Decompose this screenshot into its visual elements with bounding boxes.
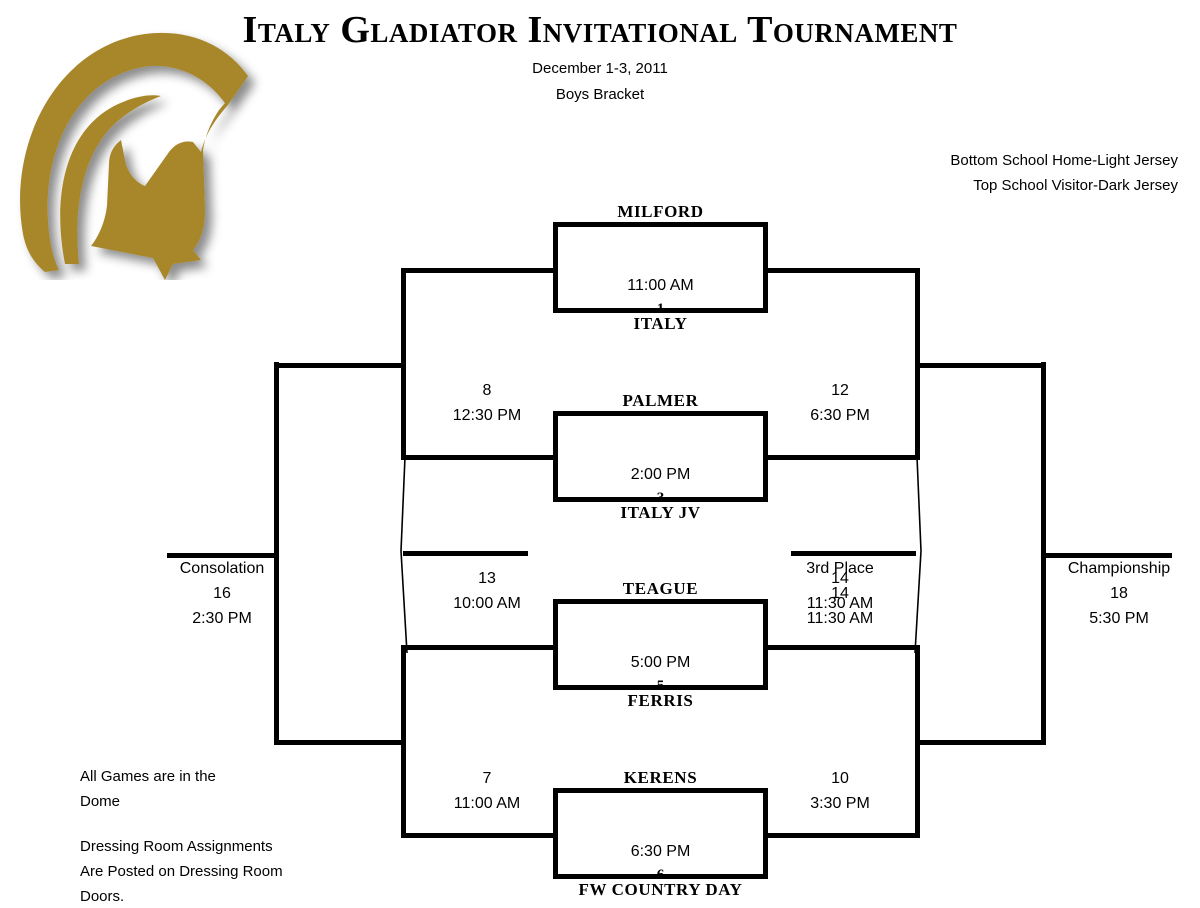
jersey-note-line-1: Bottom School Home-Light Jersey [758,148,1178,173]
slot-game-13-time: 10:00 AM [412,591,562,616]
note-dressing-line-3: Doors. [80,884,283,908]
game-6-time: 6:30 PM [558,843,763,861]
bracket-line-lower-bottom-arm [401,833,555,838]
game-5-bottom-team: FERRIS [558,691,763,711]
tournament-bracket-page: Italy Gladiator Invitational Tournament … [0,0,1200,908]
slot-game-8-time: 12:30 PM [412,403,562,428]
slot-game-7-number: 7 [412,766,562,791]
note-venue: All Games are in the Dome [80,764,216,814]
game-3-top-team: PALMER [558,391,763,411]
game-1-bottom-team: ITALY [558,314,763,334]
bracket-line-upper-bottom-arm [401,455,555,460]
slot-game-12: 12 6:30 PM [765,378,915,428]
slot-game-7-time: 11:00 AM [412,791,562,816]
slot-third-place: 3rd Place 14 11:30 AM [765,556,915,631]
bracket-connector-left-upper [396,455,416,655]
note-dressing-rooms: Dressing Room Assignments Are Posted on … [80,834,283,908]
bracket-line-game13-stub [403,551,528,556]
game-5-time: 5:00 PM [558,654,763,672]
bracket-line-lower-right-top-arm [766,645,920,650]
jersey-note-line-2: Top School Visitor-Dark Jersey [758,173,1178,198]
game-1-top-team: MILFORD [558,202,763,222]
game-box-5[interactable]: TEAGUE 5:00 PM 5 FERRIS [553,599,768,690]
game-6-bottom-team: FW COUNTRY DAY [558,880,763,900]
game-box-3[interactable]: PALMER 2:00 PM 3 ITALY JV [553,411,768,502]
bracket-line-upper-right-top-arm [766,268,920,273]
bracket-name: Boys Bracket [0,86,1200,103]
bracket-line-upper-top-arm [401,268,555,273]
bracket-line-lower-feed-stub [274,740,406,745]
note-venue-line-1: All Games are in the [80,764,216,789]
game-6-top-team: KERENS [558,768,763,788]
game-box-1[interactable]: MILFORD 11:00 AM 1 ITALY [553,222,768,313]
slot-third-place-number: 14 [765,581,915,606]
slot-championship-time: 5:30 PM [1046,606,1192,631]
slot-game-13: 13 10:00 AM [412,566,562,616]
game-box-6[interactable]: KERENS 6:30 PM 6 FW COUNTRY DAY [553,788,768,879]
slot-championship: Championship 18 5:30 PM [1046,556,1192,631]
slot-third-place-time: 11:30 AM [765,606,915,631]
slot-game-10: 10 3:30 PM [765,766,915,816]
slot-game-12-number: 12 [765,378,915,403]
slot-game-8-number: 8 [412,378,562,403]
slot-consolation-number: 16 [152,581,292,606]
bracket-line-upper-right-bottom-arm [766,455,920,460]
slot-game-7: 7 11:00 AM [412,766,562,816]
slot-third-place-label: 3rd Place [765,556,915,581]
bracket-line-lower-right-bottom-arm [766,833,920,838]
slot-consolation-label: Consolation [152,556,292,581]
slot-consolation: Consolation 16 2:30 PM [152,556,292,631]
slot-game-10-time: 3:30 PM [765,791,915,816]
slot-championship-label: Championship [1046,556,1192,581]
note-dressing-line-1: Dressing Room Assignments [80,834,283,859]
gladiator-helmet-logo [5,14,267,280]
note-dressing-line-2: Are Posted on Dressing Room [80,859,283,884]
bracket-line-upper-feed-stub [274,363,406,368]
bracket-line-upper-right-feed-stub [915,363,1046,368]
slot-game-10-number: 10 [765,766,915,791]
jersey-note: Bottom School Home-Light Jersey Top Scho… [758,148,1178,198]
tournament-dates: December 1-3, 2011 [0,60,1200,77]
game-5-top-team: TEAGUE [558,579,763,599]
game-1-time: 11:00 AM [558,277,763,295]
game-3-time: 2:00 PM [558,466,763,484]
note-venue-line-2: Dome [80,789,216,814]
slot-game-13-number: 13 [412,566,562,591]
page-title: Italy Gladiator Invitational Tournament [0,8,1200,52]
slot-game-8: 8 12:30 PM [412,378,562,428]
slot-consolation-time: 2:30 PM [152,606,292,631]
game-3-bottom-team: ITALY JV [558,503,763,523]
bracket-line-lower-top-arm [401,645,555,650]
slot-championship-number: 18 [1046,581,1192,606]
bracket-line-lower-right-feed-stub [915,740,1046,745]
slot-game-12-time: 6:30 PM [765,403,915,428]
